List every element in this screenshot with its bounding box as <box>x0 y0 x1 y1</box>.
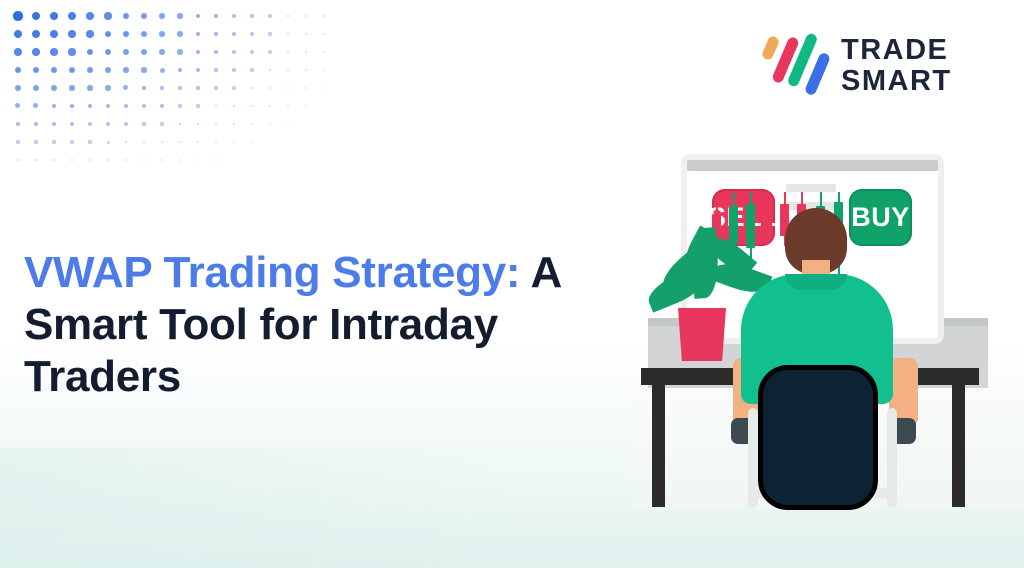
grid-dot <box>178 68 183 73</box>
grid-dot <box>15 103 20 108</box>
grid-dot <box>232 68 236 72</box>
page-title: VWAP Trading Strategy: A Smart Tool for … <box>24 247 624 403</box>
grid-dot <box>323 33 325 35</box>
grid-dot <box>89 159 91 161</box>
banner-root: TRADE SMART VWAP Trading Strategy: A Sma… <box>0 0 1024 568</box>
grid-dot <box>251 141 252 142</box>
grid-dot <box>306 142 307 143</box>
grid-dot <box>178 86 182 90</box>
grid-dot <box>51 67 58 74</box>
grid-dot <box>123 67 129 73</box>
grid-dot <box>50 30 58 38</box>
grid-dot <box>70 104 75 109</box>
chair-backrest <box>758 365 878 510</box>
grid-dot <box>123 31 130 38</box>
grid-dot <box>143 159 145 161</box>
grid-dot <box>87 49 94 56</box>
candle-4 <box>763 192 772 244</box>
logo-wordmark-line1: TRADE <box>841 35 952 66</box>
grid-dot <box>124 122 128 126</box>
grid-dot <box>251 105 253 107</box>
grid-dot <box>35 159 38 162</box>
grid-dot <box>15 67 22 74</box>
candle-body <box>746 204 755 248</box>
grid-dot <box>287 51 290 54</box>
grid-dot <box>88 140 91 143</box>
grid-dot <box>161 141 163 143</box>
grid-dot <box>269 105 271 107</box>
grid-dot <box>287 105 289 107</box>
grid-dot <box>268 14 271 17</box>
grid-dot <box>232 50 236 54</box>
logo-bar-orange <box>761 35 781 61</box>
grid-dot <box>15 85 21 91</box>
trader-at-desk-illustration: SELL BUY <box>630 140 1024 508</box>
grid-dot <box>232 32 236 36</box>
grid-dot <box>324 142 325 143</box>
grid-dot <box>232 14 236 18</box>
grid-dot <box>123 85 128 90</box>
grid-dot <box>141 31 147 37</box>
grid-dot <box>177 49 182 54</box>
logo-wordmark-line2: SMART <box>841 66 952 97</box>
logo-wordmark: TRADE SMART <box>841 35 952 97</box>
grid-dot <box>214 68 218 72</box>
grid-dot <box>53 159 55 161</box>
grid-dot <box>179 123 182 126</box>
grid-dot <box>107 141 110 144</box>
grid-dot <box>305 87 307 89</box>
grid-dot <box>323 69 325 71</box>
grid-dot <box>268 32 271 35</box>
grid-dot <box>17 159 20 162</box>
grid-dot <box>269 123 270 124</box>
background-gradient-wash-left <box>0 448 520 568</box>
grid-dot <box>214 32 218 36</box>
grid-dot <box>125 141 128 144</box>
grid-dot <box>124 104 128 108</box>
grid-dot <box>305 15 307 17</box>
grid-dot <box>177 31 182 36</box>
grid-dot <box>160 68 165 73</box>
grid-dot <box>141 49 147 55</box>
grid-dot <box>142 86 147 91</box>
candle-wick-top <box>750 192 752 204</box>
grid-dot <box>68 30 76 38</box>
grid-dot <box>87 67 93 73</box>
grid-dot <box>250 50 253 53</box>
plant-pot <box>678 308 726 361</box>
grid-dot <box>196 86 200 90</box>
grid-dot <box>305 105 306 106</box>
grid-dot <box>105 85 110 90</box>
grid-dot <box>105 31 112 38</box>
grid-dot <box>123 13 130 20</box>
grid-dot <box>34 122 38 126</box>
grid-dot <box>52 122 56 126</box>
grid-dot <box>214 14 219 19</box>
grid-dot <box>323 15 325 17</box>
grid-dot <box>323 87 324 88</box>
grid-dot <box>16 122 20 126</box>
grid-dot <box>306 124 307 125</box>
grid-dot <box>107 159 109 161</box>
grid-dot <box>196 32 201 37</box>
candle-wick-bottom <box>767 232 769 244</box>
grid-dot <box>34 140 37 143</box>
placeholder-bar-1 <box>786 184 836 192</box>
grid-dot <box>234 160 235 161</box>
grid-dot <box>88 122 92 126</box>
grid-dot <box>214 86 217 89</box>
monitor-titlebar <box>687 160 938 171</box>
grid-dot <box>86 12 94 20</box>
grid-dot <box>269 69 272 72</box>
grid-dot <box>160 104 164 108</box>
candle-wick-top <box>820 192 822 206</box>
grid-dot <box>197 123 200 126</box>
grid-dot <box>14 48 22 56</box>
grid-dot <box>288 160 289 161</box>
grid-dot <box>270 160 271 161</box>
logo-mark-icon <box>757 30 831 102</box>
grid-dot <box>197 141 199 143</box>
grid-dot <box>68 48 75 55</box>
grid-dot <box>214 50 218 54</box>
grid-dot <box>159 31 165 37</box>
grid-dot <box>232 86 235 89</box>
grid-dot <box>16 140 19 143</box>
buy-button[interactable]: BUY <box>849 189 912 246</box>
grid-dot <box>142 122 145 125</box>
grid-dot <box>179 159 181 161</box>
grid-dot <box>251 87 254 90</box>
grid-dot <box>33 85 39 91</box>
grid-dot <box>141 67 146 72</box>
grid-dot <box>305 69 307 71</box>
grid-dot <box>287 87 289 89</box>
grid-dot <box>250 14 254 18</box>
grid-dot <box>160 86 164 90</box>
trade-smart-logo[interactable]: TRADE SMART <box>757 30 942 102</box>
grid-dot <box>233 123 235 125</box>
grid-dot <box>161 159 163 161</box>
grid-dot <box>233 141 234 142</box>
candle-3 <box>746 192 755 258</box>
grid-dot <box>323 51 325 53</box>
grid-dot <box>215 105 218 108</box>
grid-dot <box>159 13 165 19</box>
page-title-accent: VWAP Trading Strategy: <box>24 248 520 297</box>
grid-dot <box>324 160 325 161</box>
person-collar <box>785 274 847 290</box>
grid-dot <box>160 122 163 125</box>
grid-dot <box>324 106 325 107</box>
grid-dot <box>33 103 38 108</box>
grid-dot <box>50 48 57 55</box>
grid-dot <box>71 159 73 161</box>
grid-dot <box>52 140 55 143</box>
grid-dot <box>287 69 289 71</box>
grid-dot <box>106 122 110 126</box>
grid-dot <box>14 30 22 38</box>
grid-dot <box>70 140 73 143</box>
grid-dot <box>159 49 164 54</box>
grid-dot <box>287 33 290 36</box>
grid-dot <box>32 12 41 21</box>
grid-dot <box>287 123 288 124</box>
grid-dot <box>106 104 111 109</box>
grid-dot <box>69 67 75 73</box>
grid-dot <box>215 159 216 160</box>
grid-dot <box>197 159 198 160</box>
grid-dot <box>287 15 290 18</box>
grid-dot <box>104 12 111 19</box>
grid-dot <box>178 104 182 108</box>
candle-wick-top <box>733 192 735 206</box>
grid-dot <box>143 141 146 144</box>
grid-dot <box>32 48 39 55</box>
grid-dot <box>33 67 40 74</box>
desk-leg-right <box>952 385 965 507</box>
grid-dot <box>69 85 75 91</box>
candle-wick-top <box>838 192 840 202</box>
grid-dot <box>177 13 182 18</box>
grid-dot <box>142 104 146 108</box>
candle-wick-top <box>801 192 803 204</box>
grid-dot <box>233 105 236 108</box>
grid-dot <box>196 14 201 19</box>
grid-dot <box>51 85 57 91</box>
grid-dot <box>105 67 111 73</box>
grid-dot <box>250 32 254 36</box>
grid-dot <box>288 142 289 143</box>
grid-dot <box>52 104 57 109</box>
dot-grid-decoration <box>0 0 340 185</box>
grid-dot <box>13 11 22 20</box>
grid-dot <box>250 68 253 71</box>
candle-wick-top <box>716 198 718 214</box>
candle-wick-top <box>784 192 786 204</box>
grid-dot <box>196 50 201 55</box>
grid-dot <box>70 122 74 126</box>
grid-dot <box>68 12 76 20</box>
grid-dot <box>251 123 253 125</box>
grid-dot <box>86 30 93 37</box>
grid-dot <box>125 159 127 161</box>
grid-dot <box>270 142 271 143</box>
desk-leg-left <box>652 385 665 507</box>
grid-dot <box>196 68 200 72</box>
grid-dot <box>215 123 217 125</box>
candle-body <box>763 202 772 232</box>
grid-dot <box>88 104 93 109</box>
grid-dot <box>215 141 217 143</box>
grid-dot <box>269 87 271 89</box>
grid-dot <box>324 124 325 125</box>
grid-dot <box>305 51 307 53</box>
grid-dot <box>268 50 271 53</box>
grid-dot <box>252 160 253 161</box>
candle-wick-top <box>767 192 769 202</box>
grid-dot <box>32 30 40 38</box>
grid-dot <box>179 141 181 143</box>
grid-dot <box>50 12 58 20</box>
grid-dot <box>123 49 129 55</box>
grid-dot <box>306 160 307 161</box>
grid-dot <box>87 85 92 90</box>
grid-dot <box>305 33 307 35</box>
grid-dot <box>105 49 112 56</box>
candle-body <box>729 206 738 244</box>
grid-dot <box>141 13 147 19</box>
grid-dot <box>196 104 199 107</box>
